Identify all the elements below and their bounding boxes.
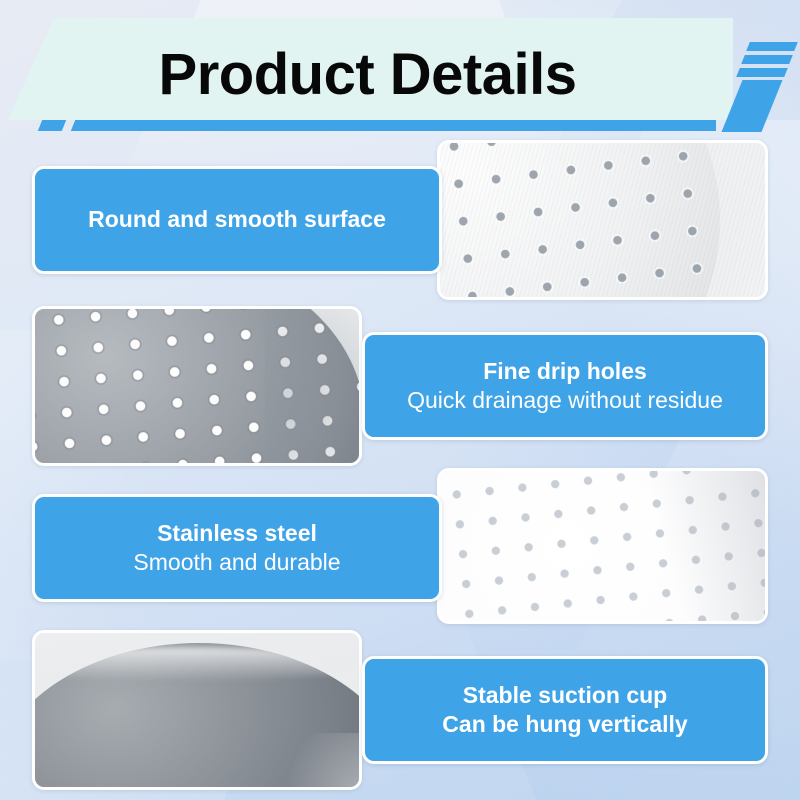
feature-label-1-line-1: Round and smooth surface: [88, 205, 386, 234]
feature-row-3: Stainless steel Smooth and durable: [0, 468, 800, 624]
header-banner: Product Details: [0, 18, 800, 136]
banner-swoosh-icon-2: [741, 55, 793, 64]
banner-swoosh-icon-1: [746, 42, 798, 51]
feature-label-3-line-1: Stainless steel: [157, 519, 317, 548]
feature-row-4: Stable suction cup Can be hung verticall…: [0, 630, 800, 790]
feature-label-4: Stable suction cup Can be hung verticall…: [362, 656, 768, 764]
feature-label-4-line-2: Can be hung vertically: [442, 710, 687, 739]
feature-label-3: Stainless steel Smooth and durable: [32, 494, 442, 602]
feature-label-1: Round and smooth surface: [32, 166, 442, 274]
product-details-infographic: Product Details Round and smooth surface: [0, 0, 800, 800]
feature-label-2: Fine drip holes Quick drainage without r…: [362, 332, 768, 440]
banner-underline: [78, 120, 716, 131]
banner-dash-icon-1: [38, 120, 66, 131]
feature-row-1: Round and smooth surface: [0, 140, 800, 300]
feature-label-4-line-1: Stable suction cup: [463, 681, 667, 710]
feature-row-2: Fine drip holes Quick drainage without r…: [0, 306, 800, 466]
feature-label-2-line-2: Quick drainage without residue: [407, 386, 723, 415]
feature-label-2-line-1: Fine drip holes: [483, 357, 647, 386]
feature-photo-1: [437, 140, 768, 300]
page-title: Product Details: [0, 46, 735, 104]
feature-photo-3: [437, 468, 768, 624]
feature-photo-2: [32, 306, 362, 466]
feature-photo-4: [32, 630, 362, 790]
banner-swoosh-icon-3: [736, 68, 788, 77]
feature-label-3-line-2: Smooth and durable: [133, 548, 340, 577]
